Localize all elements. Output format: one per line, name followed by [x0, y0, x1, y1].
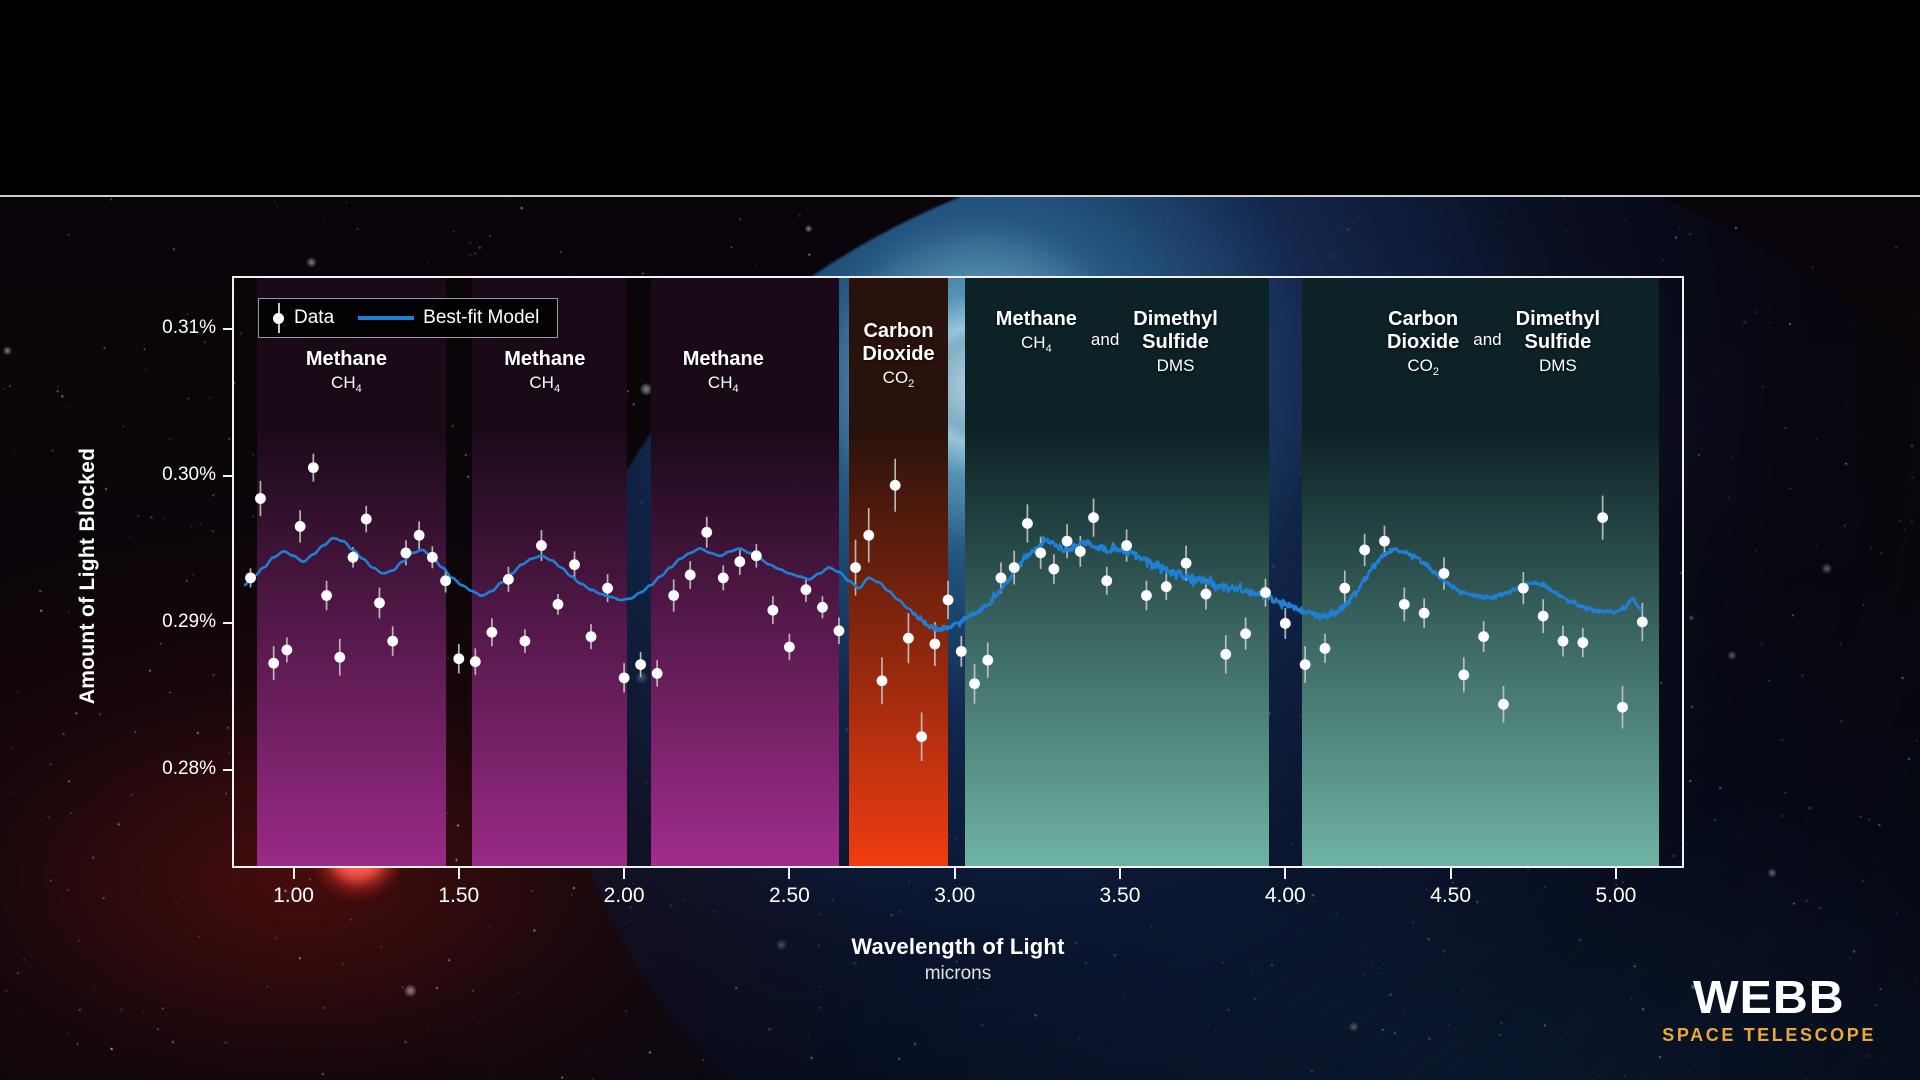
- x-tick-label: 4.00: [1265, 884, 1306, 908]
- x-tick-mark: [1450, 868, 1452, 879]
- webb-wordmark: WEBB: [1657, 974, 1881, 1020]
- x-tick-mark: [788, 868, 790, 879]
- x-axis-title: Wavelength of Light microns: [232, 934, 1684, 985]
- x-tick-mark: [458, 868, 460, 879]
- x-axis-title-units: microns: [232, 963, 1684, 985]
- x-tick-mark: [623, 868, 625, 879]
- webb-logo: WEBB SPACE TELESCOPE: [1662, 974, 1876, 1046]
- x-tick-label: 2.50: [769, 884, 810, 908]
- x-tick-mark: [1119, 868, 1121, 879]
- x-tick-mark: [1615, 868, 1617, 879]
- x-tick-label: 1.50: [438, 884, 479, 908]
- infographic-canvas: EXOPLANET K2-18 b ATMOSPHERE COMPOSITION…: [0, 0, 1920, 1080]
- header-divider: [0, 195, 1920, 197]
- x-tick-label: 2.00: [604, 884, 645, 908]
- x-axis-title-main: Wavelength of Light: [232, 934, 1684, 960]
- x-tick-label: 3.00: [934, 884, 975, 908]
- header-bar: [0, 0, 1920, 196]
- x-tick-mark: [954, 868, 956, 879]
- x-tick-label: 3.50: [1100, 884, 1141, 908]
- x-tick-label: 5.00: [1595, 884, 1636, 908]
- x-tick-mark: [1284, 868, 1286, 879]
- x-tick-mark: [293, 868, 295, 879]
- x-tick-label: 4.50: [1430, 884, 1471, 908]
- x-tick-label: 1.00: [273, 884, 314, 908]
- webb-subtitle: SPACE TELESCOPE: [1662, 1025, 1876, 1046]
